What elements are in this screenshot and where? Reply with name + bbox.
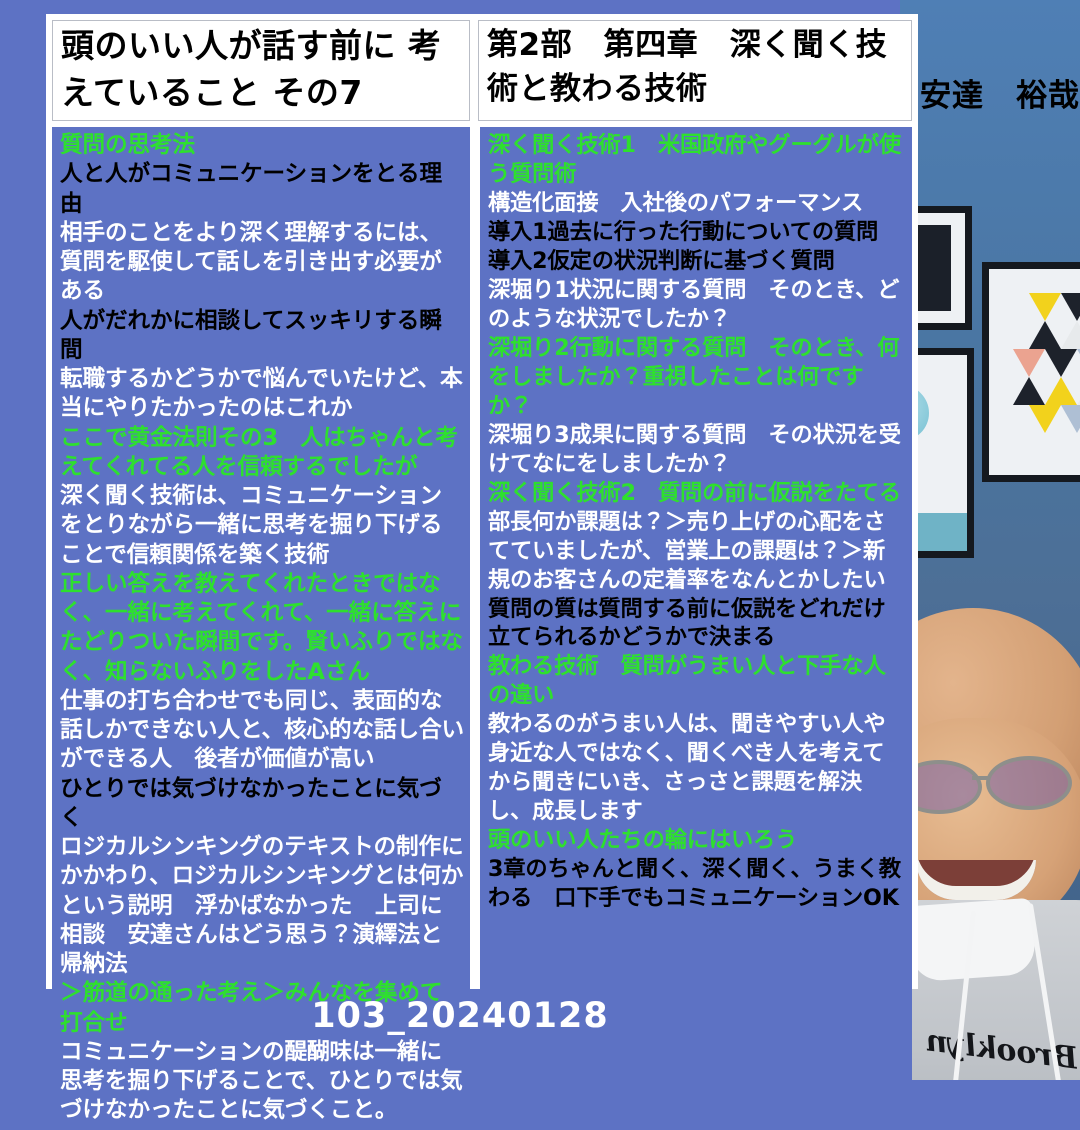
left-note-line: コミュニケーションの醍醐味は一緒に思考を掘り下げることで、ひとりでは気づけなかっ…	[60, 1038, 464, 1126]
left-note-line: 質問の思考法	[60, 131, 464, 160]
title-row: 頭のいい人が話す前に 考えていること その7 第2部 第四章 深く聞く技 術と教…	[52, 20, 912, 121]
right-note-line: 導入2仮定の状況判断に基づく質問	[488, 247, 906, 276]
right-note-line: 教わる技術 質問がうまい人と下手な人の違い	[488, 652, 906, 710]
left-notes-column: 質問の思考法人と人がコミュニケーションをとる理由相手のことをより深く理解するには…	[52, 127, 470, 1130]
eyeglasses-right-lens	[986, 756, 1072, 810]
slide-caption: 103_20240128	[0, 996, 920, 1036]
left-note-line: 深く聞く技術は、コミュニケーションをとりながら一緒に思考を掘り下げることで信頼関…	[60, 482, 464, 570]
right-note-line: 構造化面接 入社後のパフォーマンス	[488, 189, 906, 218]
wall-art-frame-triangles	[982, 262, 1080, 482]
right-note-line: 導入1過去に行った行動についての質問	[488, 218, 906, 247]
left-note-line: 仕事の打ち合わせでも同じ、表面的な話しかできない人と、核心的な話し合いができる人…	[60, 687, 464, 775]
left-note-line: 正しい答えを教えてくれたときではなく、一緒に考えてくれて、一緒に答えにたどりつい…	[60, 570, 464, 687]
right-note-line: 深く聞く技術1 米国政府やグーグルが使う質問術	[488, 131, 906, 189]
author-name: 安達 裕哉	[920, 70, 1080, 115]
eyeglasses-bridge	[972, 776, 990, 780]
right-note-line: 教わるのがうまい人は、聞きやすい人や身近な人ではなく、聞くべき人を考えてから聞き…	[488, 710, 906, 826]
slide-card: 頭のいい人が話す前に 考えていること その7 第2部 第四章 深く聞く技 術と教…	[46, 14, 918, 989]
right-note-line: 部長何か課題は？＞売り上げの心配をさてていましたが、営業上の課題は？＞新規のお客…	[488, 508, 906, 595]
right-note-line: 深堀り1状況に関する質問 そのとき、どのような状況でしたか？	[488, 276, 906, 334]
page-title-right: 第2部 第四章 深く聞く技 術と教わる技術	[487, 23, 905, 111]
content-columns: 質問の思考法人と人がコミュニケーションをとる理由相手のことをより深く理解するには…	[52, 127, 912, 1130]
left-note-line: ひとりでは気づけなかったことに気づく	[60, 775, 464, 834]
left-note-line: ここで黄金法則その3 人はちゃんと考えてくれてる人を信頼するでしたが	[60, 424, 464, 483]
right-note-line: 3章のちゃんと聞く、深く聞く、うまく教わる 口下手でもコミュニケーションOK	[488, 855, 906, 913]
right-note-line: 深く聞く技術2 質問の前に仮説をたてる	[488, 479, 906, 508]
left-note-line: 人と人がコミュニケーションをとる理由	[60, 160, 464, 219]
right-note-line: 頭のいい人たちの輪にはいろう	[488, 826, 906, 855]
left-note-line: 人がだれかに相談してスッキリする瞬間	[60, 307, 464, 366]
page-title-left: 頭のいい人が話す前に 考えていること その7	[61, 23, 463, 117]
webcam-video-panel: Brooklyn	[900, 0, 1080, 1080]
left-note-line: ロジカルシンキングのテキストの制作にかかわり、ロジカルシンキングとは何かという説…	[60, 833, 464, 979]
right-note-line: 深堀り2行動に関する質問 そのとき、何をしましたか？重視したことは何ですか？	[488, 334, 906, 421]
left-note-line: 転職するかどうかで悩んでいたけど、本当にやりたかったのはこれか	[60, 365, 464, 424]
title-box-right: 第2部 第四章 深く聞く技 術と教わる技術	[478, 20, 912, 121]
triangle-pattern	[1001, 293, 1080, 443]
right-note-line: 深堀り3成果に関する質問 その状況を受けてなにをしましたか？	[488, 421, 906, 479]
right-notes-column: 深く聞く技術1 米国政府やグーグルが使う質問術構造化面接 入社後のパフォーマンス…	[480, 127, 912, 1130]
right-note-line: 質問の質は質問する前に仮説をどれだけ立てられるかどうかで決まる	[488, 595, 906, 653]
title-box-left: 頭のいい人が話す前に 考えていること その7	[52, 20, 470, 121]
left-note-line: 相手のことをより深く理解するには、質問を駆使して話しを引き出す必要がある	[60, 219, 464, 307]
